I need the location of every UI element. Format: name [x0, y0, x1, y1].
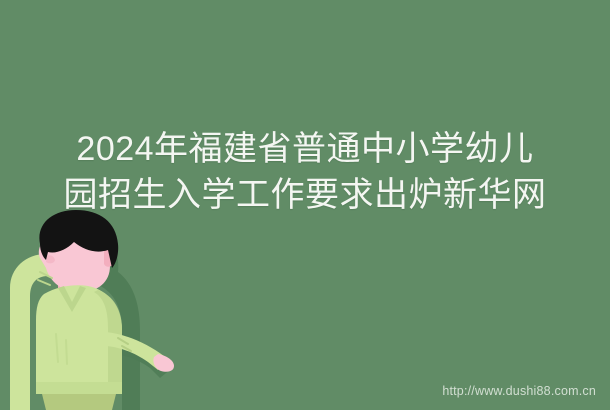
torso-fold-2 — [66, 340, 67, 364]
armpit-fold-2 — [38, 280, 50, 285]
person-illustration — [0, 210, 190, 410]
poster-canvas: 2024年福建省普通中小学幼儿 园招生入学工作要求出炉新华网 http://ww… — [0, 0, 610, 410]
poster-title: 2024年福建省普通中小学幼儿 园招生入学工作要求出炉新华网 — [0, 126, 610, 218]
pants — [42, 394, 116, 410]
title-line-1: 2024年福建省普通中小学幼儿 — [0, 126, 610, 172]
watermark-url: http://www.dushi88.com.cn — [442, 384, 596, 399]
sweater-hem — [36, 382, 122, 394]
